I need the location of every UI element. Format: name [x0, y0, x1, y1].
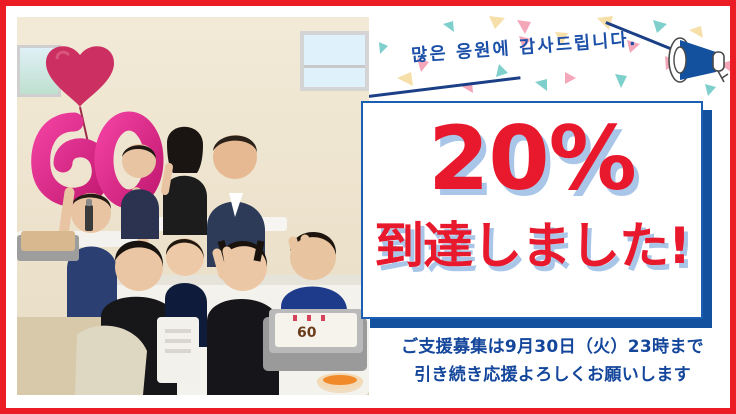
achieved-headline: 到達しました!	[363, 221, 701, 271]
achievement-card: 20% 到達しました!	[361, 101, 703, 319]
photo-illustration: 60	[17, 17, 369, 395]
deadline-note: ご支援募集は9月30日（火）23時まで 引き続き応援よろしくお願いします	[369, 333, 736, 407]
promo-banner-root: 60	[0, 0, 736, 414]
korean-thanks-banner: 많은 응원에 감사드립니다.	[369, 12, 736, 100]
percent-headline: 20%	[363, 115, 701, 203]
megaphone-icon	[658, 28, 730, 94]
classroom-celebration-photo: 60	[17, 17, 369, 395]
svg-text:60: 60	[297, 325, 317, 341]
deadline-note-line2: 引き続き応援よろしくお願いします	[369, 361, 736, 389]
deadline-note-line1: ご支援募集は9月30日（火）23時まで	[369, 333, 736, 361]
